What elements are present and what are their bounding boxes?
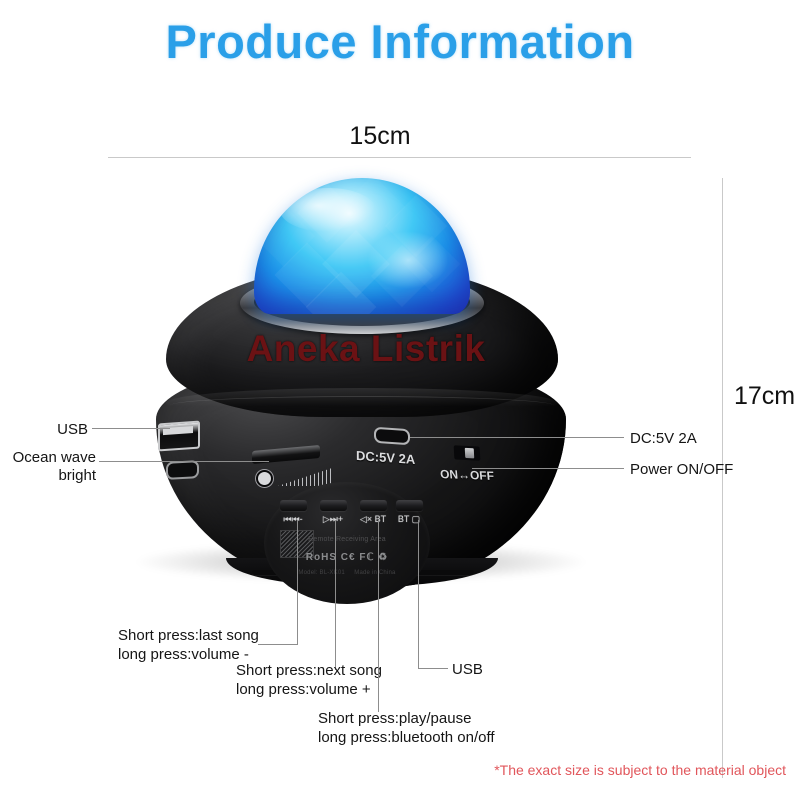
callout-last-song-line1: Short press:last song [118, 626, 259, 645]
callout-usb-left: USB [0, 420, 88, 439]
callout-dc-right: DC:5V 2A [630, 429, 697, 448]
brightness-sun-icon [258, 472, 271, 485]
remote-area-label: Remote Receiving Area [264, 536, 430, 543]
leader-line-dc-right [410, 437, 624, 438]
button-play-next[interactable] [320, 500, 347, 511]
width-dimension-line [108, 157, 691, 158]
callout-next-song-line2: long press:volume + [236, 680, 371, 699]
callout-last-song-line2: long press:volume - [118, 645, 249, 664]
height-dimension-label: 17cm [734, 382, 795, 411]
dome-highlight [280, 188, 376, 232]
callout-power-right: Power ON/OFF [630, 460, 733, 479]
callout-usb-bottom: USB [452, 660, 483, 679]
button-prev-track[interactable] [280, 500, 307, 511]
mute-bt-icon: ◁× BT [353, 514, 393, 525]
callout-play-pause-line2: long press:bluetooth on/off [318, 728, 495, 747]
leader-line-power-right [472, 468, 624, 469]
bt-light-icon: BT ▢ [389, 514, 429, 525]
ocean-wave-button [166, 460, 199, 480]
product-illustration: Aneka Listrik DC:5V 2A ON↔OFF ⏮⏮- ▷⏭+ ◁×… [78, 160, 644, 620]
product-info-image: Produce Information 15cm 17cm [0, 0, 800, 800]
disclaimer-text: *The exact size is subject to the materi… [0, 762, 786, 778]
crystal-dome-light [254, 178, 470, 314]
power-slide-switch [454, 445, 481, 460]
leader-line-ocean-wave [99, 461, 269, 462]
certification-marks: RoHS C€ Fℂ ♻ [264, 552, 430, 563]
callout-ocean-wave-line2: bright [0, 466, 96, 485]
device-body-seam [170, 396, 554, 415]
leader-line-last-song-h [258, 644, 298, 645]
callout-play-pause-line1: Short press:play/pause [318, 709, 471, 728]
usb-c-power-port [374, 427, 410, 446]
button-bt-light[interactable] [396, 500, 423, 511]
leader-line-play-pause [378, 520, 379, 712]
width-dimension-label: 15cm [290, 122, 470, 151]
dome-highlight [366, 230, 450, 290]
leader-line-usb-bottom [418, 520, 419, 668]
prev-track-icon: ⏮⏮- [273, 514, 313, 525]
leader-line-next-song [335, 520, 336, 670]
callout-next-song-line1: Short press:next song [236, 661, 382, 680]
play-next-icon: ▷⏭+ [313, 514, 353, 525]
model-label: Model: BL-XK01 Made in China [264, 570, 430, 576]
model-number: Model: BL-XK01 [298, 570, 345, 576]
button-mute-bt[interactable] [360, 500, 387, 511]
power-switch-label: ON↔OFF [439, 467, 494, 483]
leader-line-usb-bottom-h [418, 668, 448, 669]
leader-line-usb-left [92, 428, 170, 429]
made-in-label: Made in China [354, 570, 395, 576]
callout-ocean-wave-line1: Ocean wave [0, 448, 96, 467]
leader-line-last-song [297, 520, 298, 644]
usb-a-port [158, 421, 200, 452]
control-panel: ⏮⏮- ▷⏭+ ◁× BT BT ▢ Remote Receiving Area… [264, 482, 430, 604]
page-title: Produce Information [0, 14, 800, 69]
